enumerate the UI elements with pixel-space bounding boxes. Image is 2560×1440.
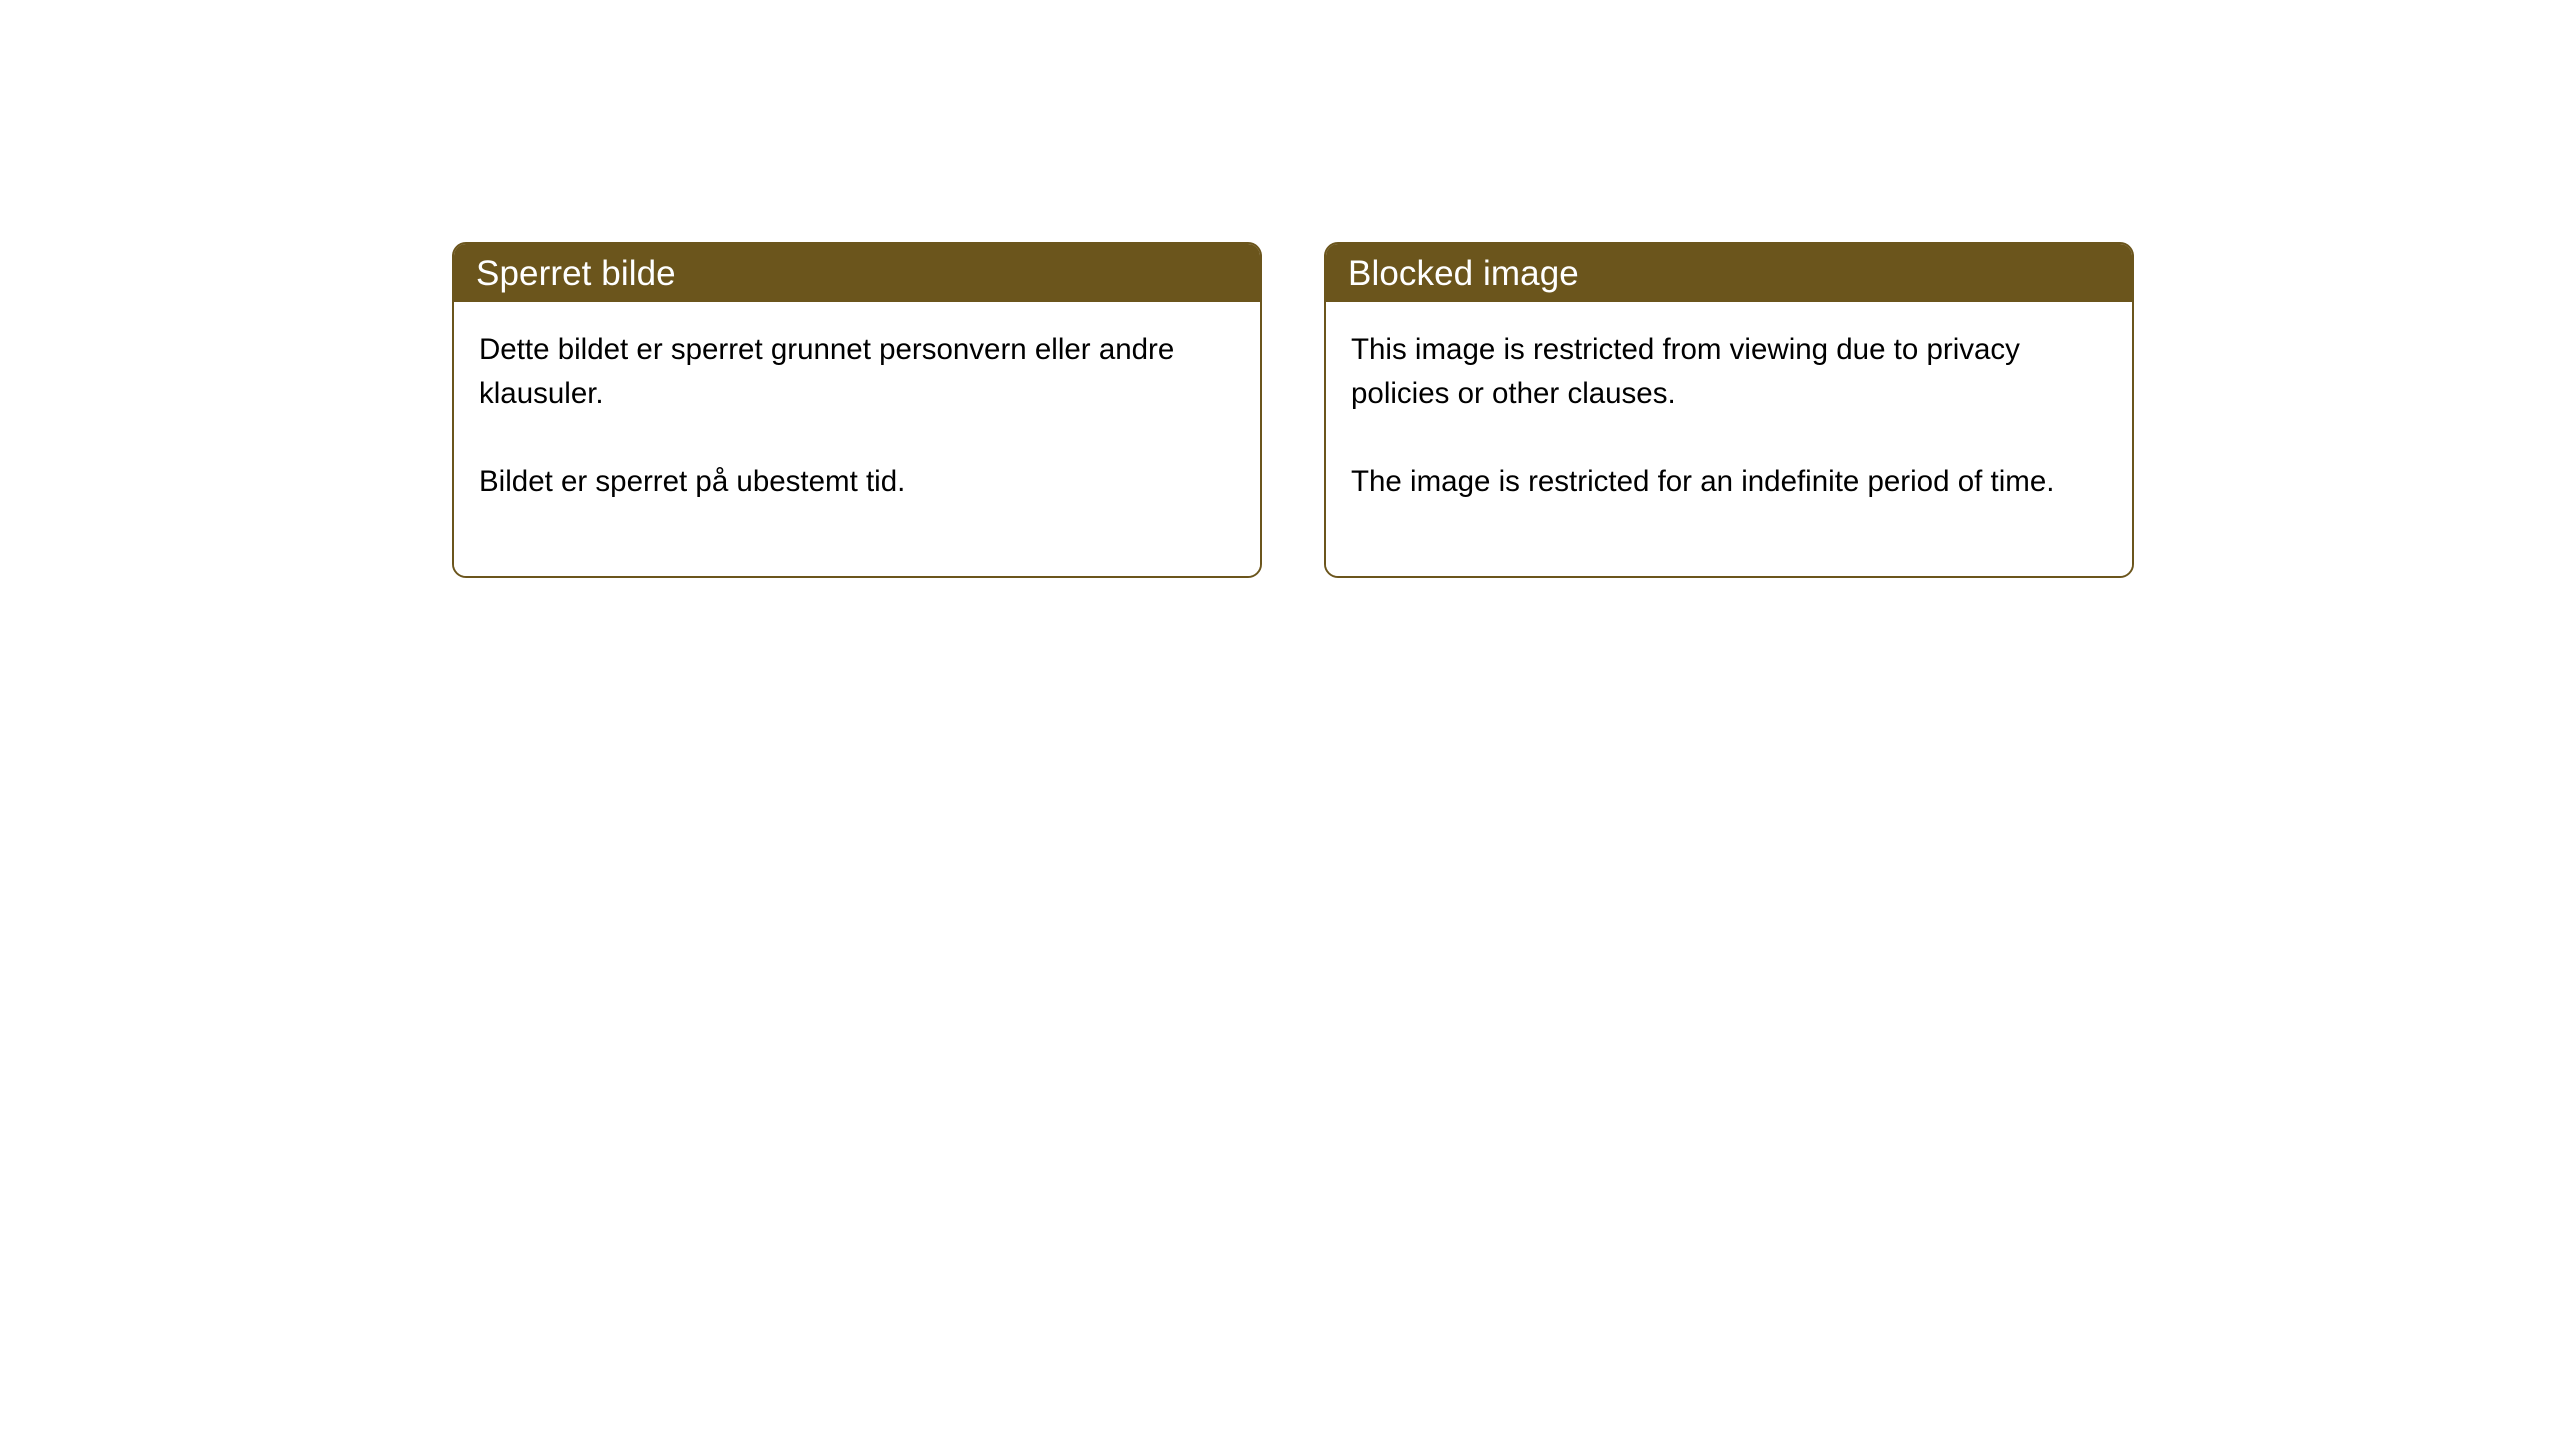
card-body-norwegian: Dette bildet er sperret grunnet personve… xyxy=(454,302,1260,576)
card-paragraph-secondary-norwegian: Bildet er sperret på ubestemt tid. xyxy=(479,460,1234,504)
blocked-image-notice-group: Sperret bilde Dette bildet er sperret gr… xyxy=(452,242,2134,578)
card-title-english: Blocked image xyxy=(1348,256,1579,291)
card-header-norwegian: Sperret bilde xyxy=(454,244,1260,302)
card-paragraph-secondary-english: The image is restricted for an indefinit… xyxy=(1351,460,2106,504)
card-title-norwegian: Sperret bilde xyxy=(476,256,676,291)
page-root: Sperret bilde Dette bildet er sperret gr… xyxy=(0,0,2560,1440)
blocked-image-card-norwegian: Sperret bilde Dette bildet er sperret gr… xyxy=(452,242,1262,578)
card-paragraph-primary-english: This image is restricted from viewing du… xyxy=(1351,328,2106,416)
blocked-image-card-english: Blocked image This image is restricted f… xyxy=(1324,242,2134,578)
card-header-english: Blocked image xyxy=(1326,244,2132,302)
card-body-english: This image is restricted from viewing du… xyxy=(1326,302,2132,576)
card-paragraph-primary-norwegian: Dette bildet er sperret grunnet personve… xyxy=(479,328,1234,416)
